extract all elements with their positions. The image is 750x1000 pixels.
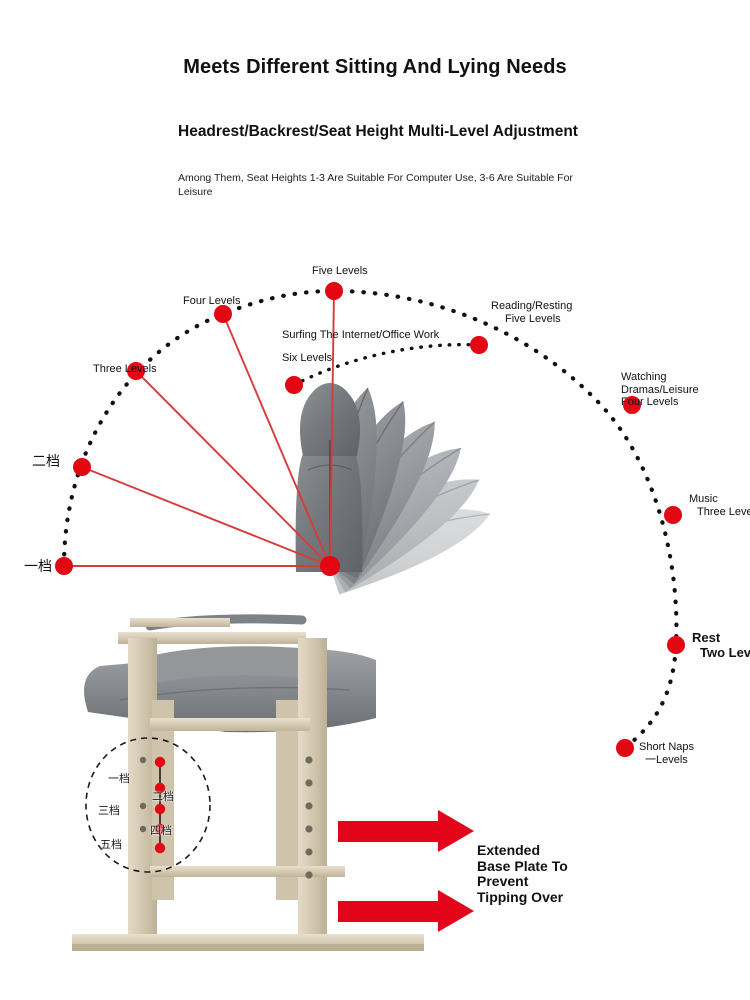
label-height-2: 二档	[152, 788, 174, 804]
label-rest: RestTwo Levels	[692, 631, 750, 661]
dot-six-levels	[285, 376, 303, 394]
label-music: MusicThree Levels	[689, 493, 750, 518]
label-six-levels: Six Levels	[282, 352, 332, 365]
label-level-5: Five Levels	[312, 265, 368, 278]
label-level-2: 二档	[32, 453, 60, 470]
label-height-3: 三档	[98, 802, 120, 818]
infographic-root: Meets Different Sitting And Lying Needs …	[0, 0, 750, 1000]
label-height-1: 一档	[108, 770, 130, 786]
dot-height-5	[155, 843, 165, 853]
label-short-naps: Short Naps一Levels	[639, 741, 694, 766]
dot-height-1	[155, 757, 165, 767]
base-plate-arrow-top	[338, 810, 474, 852]
dot-music	[664, 506, 682, 524]
label-height-4: 四档	[150, 822, 172, 838]
label-level-4: Four Levels	[183, 295, 240, 308]
label-office-work: Surfing The Internet/Office Work	[282, 329, 439, 342]
label-level-1: 一档	[24, 558, 52, 575]
label-reading-resting: Reading/RestingFive Levels	[491, 300, 572, 325]
dot-pivot	[320, 556, 340, 576]
dot-level-5	[325, 282, 343, 300]
spoke-level-2	[82, 467, 330, 566]
dot-reading-resting	[470, 336, 488, 354]
dot-level-2	[73, 458, 91, 476]
base-plate-arrow-bottom	[338, 890, 474, 932]
label-height-5: 五档	[100, 836, 122, 852]
dot-height-3	[155, 804, 165, 814]
label-watching-dramas: WatchingDramas/LeisureFour Levels	[621, 371, 699, 409]
dot-level-1	[55, 557, 73, 575]
dot-rest	[667, 636, 685, 654]
base-plate-caption: Extended Base Plate To Prevent Tipping O…	[477, 843, 572, 906]
dot-short-naps	[616, 739, 634, 757]
label-level-3: Three Levels	[93, 363, 157, 376]
